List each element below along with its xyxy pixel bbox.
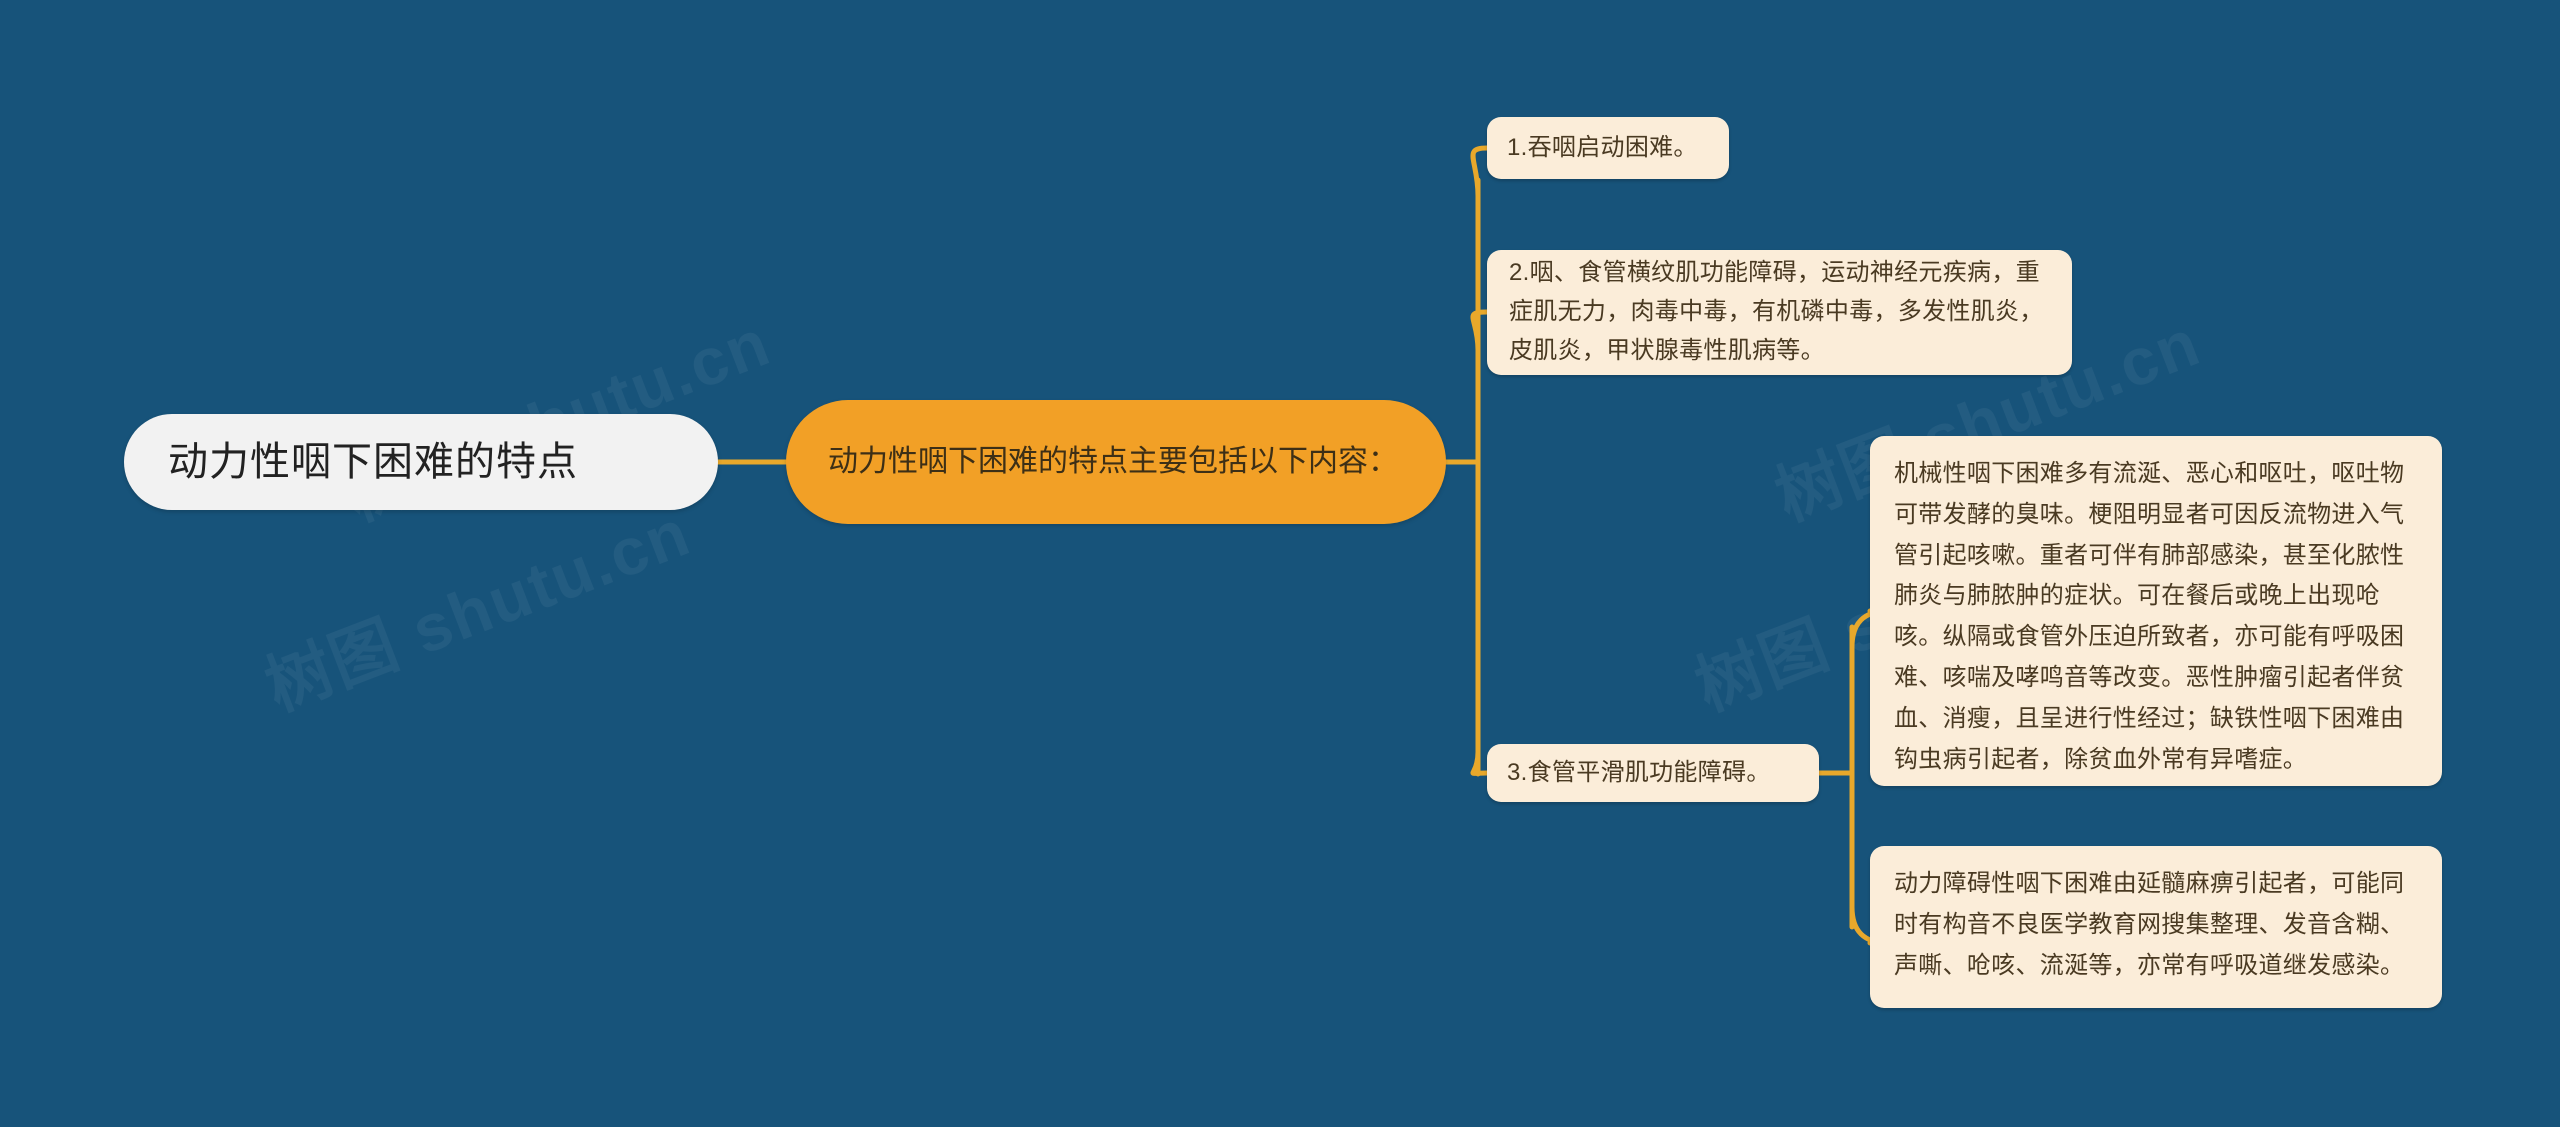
root-node[interactable]: 动力性咽下困难的特点 bbox=[124, 414, 718, 510]
branch-node-2[interactable]: 2.咽、食管横纹肌功能障碍，运动神经元疾病，重症肌无力，肉毒中毒，有机磷中毒，多… bbox=[1487, 250, 2072, 375]
mindmap-canvas: 树图 shutu.cn 树图 shutu.cn 树图 shutu.cn 树图 s… bbox=[0, 0, 2560, 1127]
link-trunk-to-branch-2 bbox=[1473, 312, 1487, 350]
branch-node-3-child-1[interactable]: 机械性咽下困难多有流涎、恶心和呕吐，呕吐物可带发酵的臭味。梗阻明显者可因反流物进… bbox=[1870, 436, 2442, 786]
link-trunk-to-branch-1 bbox=[1473, 148, 1487, 196]
branch-node-3-child-2[interactable]: 动力障碍性咽下困难由延髓麻痹引起者，可能同时有构音不良医学教育网搜集整理、发音含… bbox=[1870, 846, 2442, 1008]
watermark: 树图 shutu.cn bbox=[250, 480, 702, 730]
branch-node-1-label: 1.吞咽启动困难。 bbox=[1507, 129, 1709, 168]
branch-node-3-child-2-label: 动力障碍性咽下困难由延髓麻痹引起者，可能同时有构音不良医学教育网搜集整理、发音含… bbox=[1894, 864, 2418, 986]
branch-node-3[interactable]: 3.食管平滑肌功能障碍。 bbox=[1487, 744, 1819, 802]
branch-node-2-label: 2.咽、食管横纹肌功能障碍，运动神经元疾病，重症肌无力，肉毒中毒，有机磷中毒，多… bbox=[1509, 254, 2050, 371]
branch-node-1[interactable]: 1.吞咽启动困难。 bbox=[1487, 117, 1729, 179]
branch-node-3-label: 3.食管平滑肌功能障碍。 bbox=[1507, 754, 1799, 793]
root-node-label: 动力性咽下困难的特点 bbox=[168, 435, 674, 489]
main-node[interactable]: 动力性咽下困难的特点主要包括以下内容： bbox=[786, 400, 1446, 524]
branch-node-3-child-1-label: 机械性咽下困难多有流涎、恶心和呕吐，呕吐物可带发酵的臭味。梗阻明显者可因反流物进… bbox=[1894, 454, 2418, 780]
link-trunk-to-branch-3 bbox=[1473, 752, 1487, 773]
main-node-label: 动力性咽下困难的特点主要包括以下内容： bbox=[828, 439, 1404, 485]
